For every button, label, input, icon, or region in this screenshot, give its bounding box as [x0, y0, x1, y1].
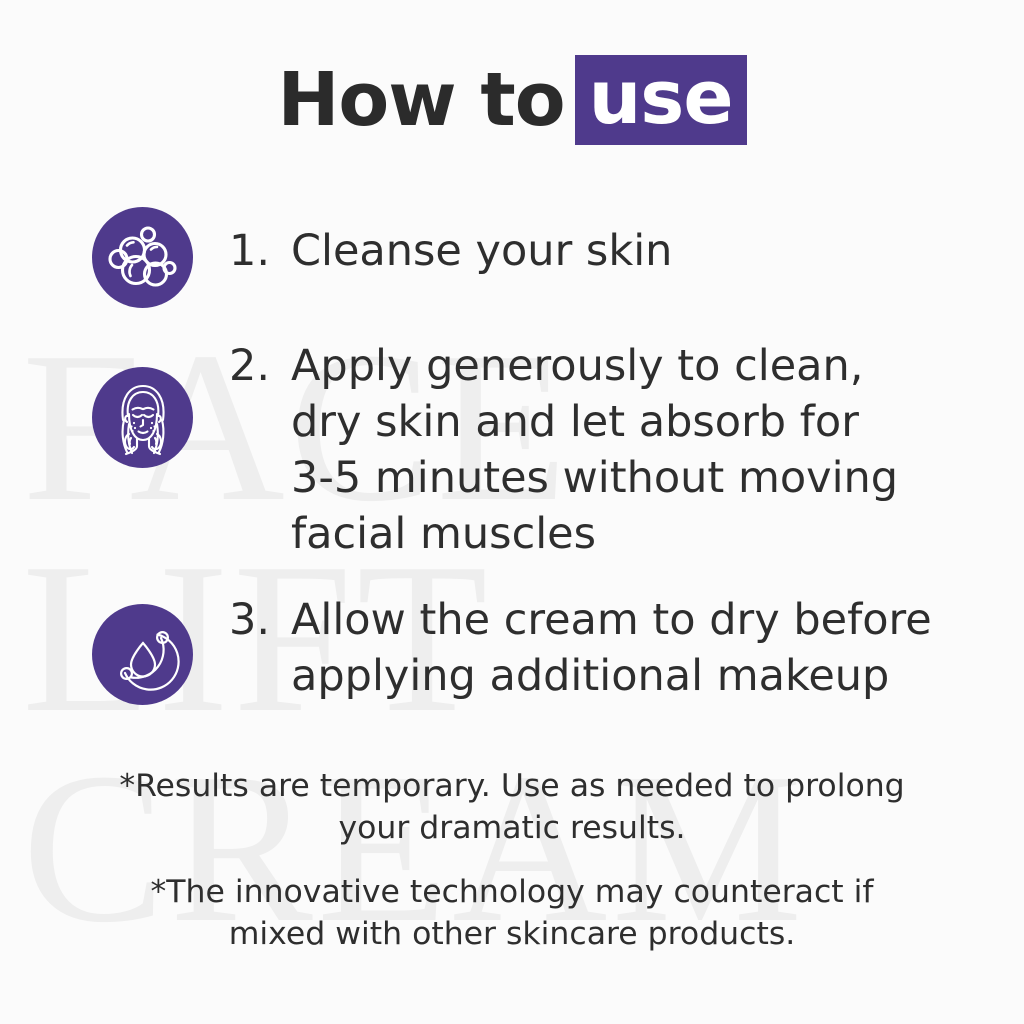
footnote-technology: *The innovative technology may counterac…: [0, 872, 1024, 956]
step-text-3: Allow the cream to dry before applying a…: [291, 593, 932, 705]
droplet-orbit-icon: [92, 604, 193, 705]
page-title-highlight: use: [575, 55, 747, 145]
step-item-1: 1. Cleanse your skin: [92, 207, 672, 308]
step-item-3: 3. Allow the cream to dry before applyin…: [92, 604, 932, 705]
step-number-3: 3.: [229, 593, 291, 649]
step-number-2: 2.: [229, 339, 291, 395]
face-massage-icon: [92, 367, 193, 468]
step-item-2: 2. Apply generously to clean, dry skin a…: [92, 367, 898, 563]
step-text-1: Cleanse your skin: [291, 224, 672, 280]
bubbles-icon: [92, 207, 193, 308]
footnote-results: *Results are temporary. Use as needed to…: [0, 766, 1024, 850]
step-number-1: 1.: [229, 224, 291, 280]
page-title: How touse: [0, 55, 1024, 145]
step-text-2: Apply generously to clean, dry skin and …: [291, 339, 898, 563]
page-title-lead: How to: [277, 57, 564, 143]
